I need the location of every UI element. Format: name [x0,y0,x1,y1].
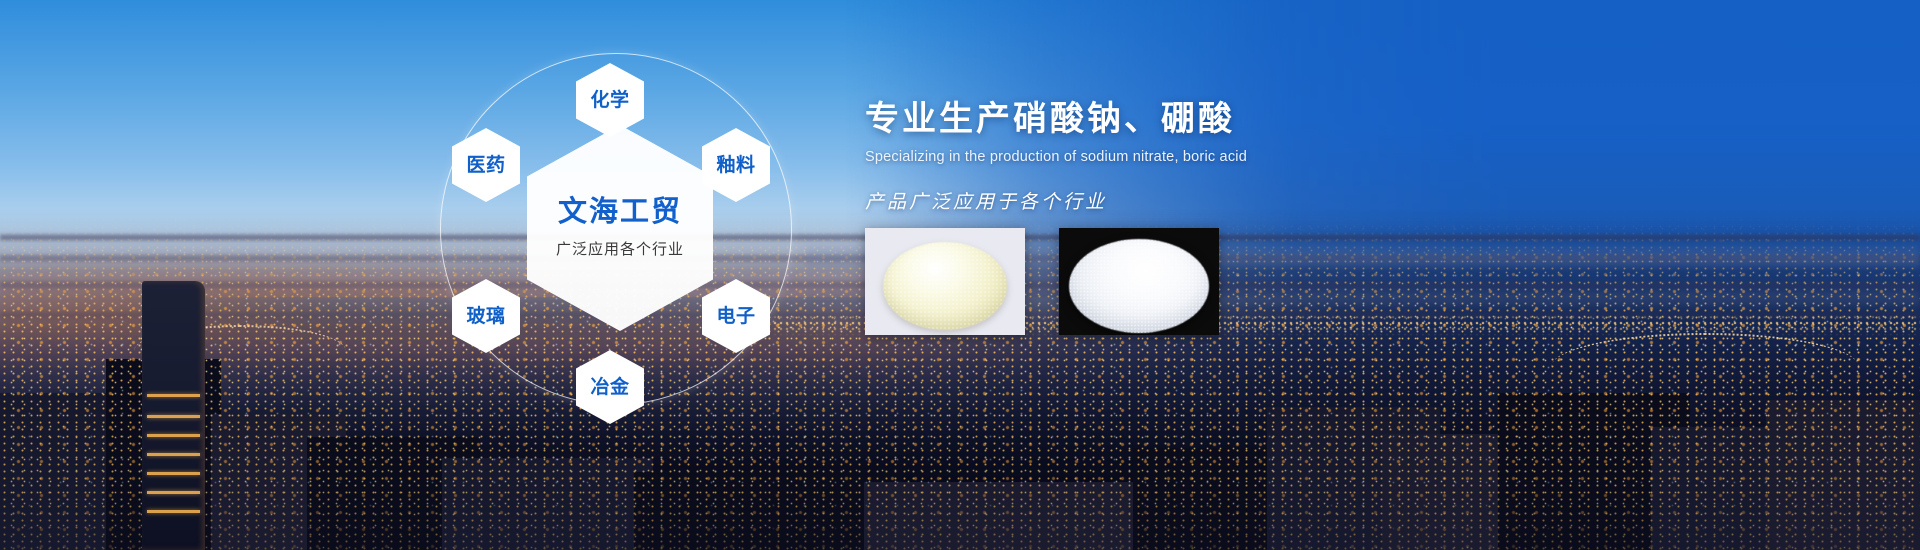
hex-node-label: 化学 [590,91,629,110]
company-tagline: 广泛应用各个行业 [556,238,684,259]
hex-node-label: 冶金 [590,378,629,397]
subheadline-english: Specializing in the production of sodium… [865,149,1625,165]
product-photo-strip [865,228,1219,335]
hex-node-label: 医药 [466,156,505,175]
industry-hex-diagram: 化学 釉料 电子 冶金 玻璃 医药 文海工贸 广泛应用各个行业 [430,25,810,445]
headline: 专业生产硝酸钠、硼酸 [865,100,1625,138]
hex-node-label: 釉料 [716,156,755,175]
promo-banner: 化学 釉料 电子 冶金 玻璃 医药 文海工贸 广泛应用各个行业 专业生产硝酸钠、… [0,0,1920,550]
powder-grain-texture [1069,239,1210,333]
skyscraper-tower [142,281,205,550]
powder-grain-texture [883,242,1008,330]
hex-node-label: 玻璃 [466,307,505,326]
copy-block: 专业生产硝酸钠、硼酸 Specializing in the productio… [865,100,1625,214]
company-name: 文海工贸 [558,197,682,229]
hex-node-label: 电子 [716,307,755,326]
product-photo-sodium-nitrate[interactable] [865,228,1025,335]
product-photo-boric-acid[interactable] [1059,228,1219,335]
tagline: 产品广泛应用于各个行业 [865,187,1625,214]
